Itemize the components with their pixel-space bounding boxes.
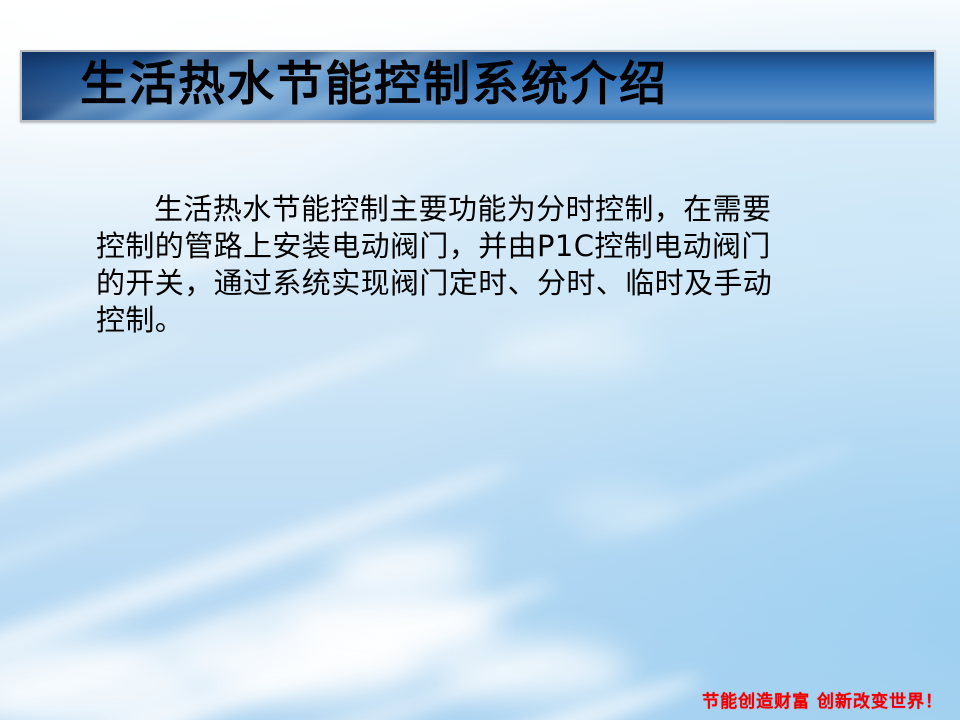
slide-title-bar: 生活热水节能控制系统介绍: [20, 50, 936, 122]
page-title: 生活热水节能控制系统介绍: [80, 52, 668, 120]
footer-slogan: 节能创造财富 创新改变世界！: [702, 687, 943, 712]
presentation-slide: 生活热水节能控制系统介绍 生活热水节能控制主要功能为分时控制，在需要控制的管路上…: [0, 0, 960, 720]
slide-body-paragraph: 生活热水节能控制主要功能为分时控制，在需要控制的管路上安装电动阀门，并由P1C控…: [96, 191, 796, 339]
